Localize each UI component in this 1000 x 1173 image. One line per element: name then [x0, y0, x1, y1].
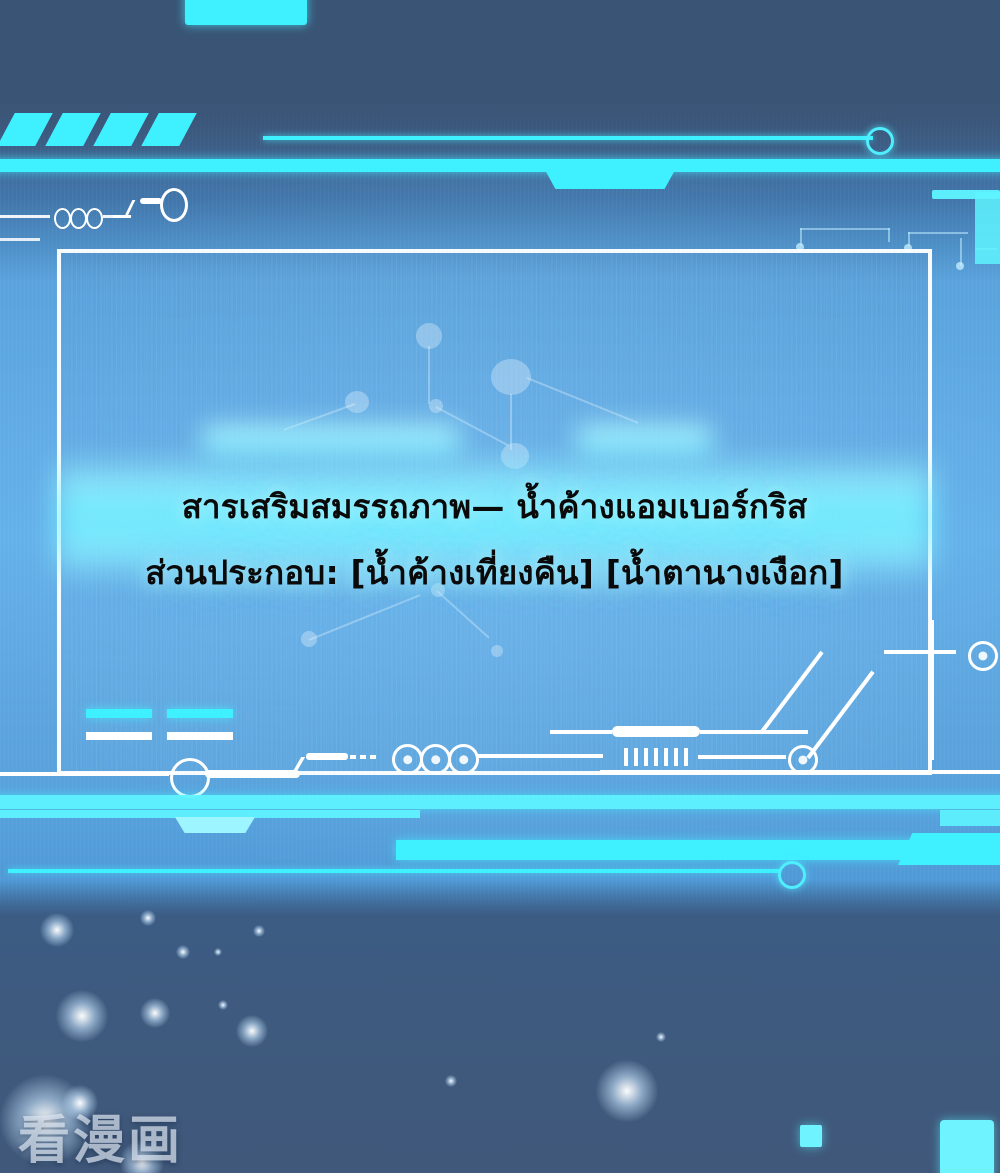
- top-cyan-block: [185, 0, 307, 25]
- bokeh-particle: [218, 1000, 228, 1010]
- pill-trace: [612, 726, 700, 737]
- bokeh-particle: [56, 990, 108, 1042]
- dashed-trace: [340, 755, 346, 759]
- bottom-bar-wedge: [898, 833, 1000, 865]
- panel-dash-mark: [86, 732, 152, 740]
- trace-dot-icon: [54, 208, 71, 229]
- bottom-banner-rule: [0, 810, 420, 818]
- top-dark-band: [0, 0, 1000, 175]
- network-node: [491, 645, 503, 657]
- bottom-trace-line: [600, 770, 1000, 774]
- dashed-trace: [370, 755, 376, 759]
- ring-indicator-icon[interactable]: [392, 744, 423, 775]
- bottom-banner-bar: [0, 795, 1000, 809]
- bokeh-particle: [40, 913, 74, 947]
- ring-indicator-icon[interactable]: [968, 641, 998, 671]
- vertical-trace: [930, 620, 934, 760]
- redacted-text-smear: [577, 426, 712, 454]
- bottom-trace-line: [57, 772, 169, 776]
- site-watermark: 看漫画: [18, 1098, 183, 1173]
- left-trace-line: [0, 215, 50, 218]
- subtitle-line-1: สารเสริมสมรรถภาพ— น้ำค้างแอมเบอร์กริส: [57, 480, 932, 533]
- redacted-text-smear: [202, 426, 460, 454]
- bottom-rule-node-icon[interactable]: [778, 861, 806, 889]
- tick-mark: [684, 748, 688, 766]
- dashed-trace: [360, 755, 366, 759]
- tick-mark: [654, 748, 658, 766]
- bokeh-particle: [214, 948, 222, 956]
- right-edge-tab: [932, 190, 1000, 199]
- top-bar-tab: [545, 170, 675, 189]
- bokeh-particle: [253, 925, 265, 937]
- bokeh-particle: [445, 1075, 457, 1087]
- panel-dash-mark: [167, 732, 233, 740]
- network-edge: [428, 346, 430, 404]
- top-thin-rule: [263, 136, 873, 140]
- network-node: [491, 359, 531, 395]
- right-edge-sliver: [975, 192, 1000, 264]
- ring-indicator-icon[interactable]: [420, 744, 451, 775]
- cyan-square-marker: [940, 1120, 994, 1173]
- circuit-trace: [908, 232, 968, 234]
- left-trace-line: [140, 198, 162, 204]
- ring-indicator-icon[interactable]: [448, 744, 479, 775]
- circuit-trace: [888, 228, 890, 242]
- tick-mark: [664, 748, 668, 766]
- bottom-trace-line: [550, 730, 612, 734]
- bokeh-particle: [176, 945, 190, 959]
- cyan-square-marker: [800, 1125, 822, 1147]
- tick-mark: [674, 748, 678, 766]
- bottom-banner-tab-right: [940, 810, 1000, 826]
- subtitle-overlay: สารเสริมสมรรถภาพ— น้ำค้างแอมเบอร์กริส ส่…: [57, 418, 932, 608]
- bokeh-particle: [140, 910, 156, 926]
- bottom-trace-line: [0, 772, 57, 776]
- dashed-trace: [350, 755, 356, 759]
- tick-mark: [624, 748, 628, 766]
- dashed-trace: [330, 755, 336, 759]
- bottom-banner-tab: [175, 817, 255, 833]
- top-thick-bar: [0, 159, 1000, 172]
- circuit-trace: [800, 228, 890, 230]
- bokeh-particle: [596, 1060, 658, 1122]
- hud-screen: สารเสริมสมรรถภาพ— น้ำค้างแอมเบอร์กริส ส่…: [0, 0, 1000, 1173]
- bokeh-particle: [140, 998, 170, 1028]
- tick-mark: [644, 748, 648, 766]
- trace-dot-icon: [86, 208, 103, 229]
- bottom-trace-node-icon[interactable]: [170, 758, 210, 798]
- left-trace-line: [0, 238, 40, 241]
- subtitle-line-2: ส่วนประกอบ: [น้ำค้างเที่ยงคืน] [น้ำตานาง…: [57, 546, 932, 599]
- bottom-trace-line: [478, 754, 603, 758]
- top-rule-node-icon: [866, 127, 894, 155]
- bottom-trace-line: [700, 730, 808, 734]
- panel-dash-mark: [86, 709, 152, 718]
- network-node: [345, 391, 369, 413]
- bokeh-particle: [656, 1032, 666, 1042]
- bottom-trace-line: [205, 770, 300, 778]
- bottom-trace-line: [698, 755, 786, 759]
- trace-node-icon: [160, 188, 188, 222]
- panel-dash-mark: [167, 709, 233, 718]
- circuit-trace-dot-icon: [956, 262, 964, 270]
- tick-mark: [634, 748, 638, 766]
- trace-dot-icon: [70, 208, 87, 229]
- bottom-thin-rule: [8, 869, 780, 873]
- bottom-trace-line: [884, 650, 956, 654]
- bokeh-particle: [236, 1015, 268, 1047]
